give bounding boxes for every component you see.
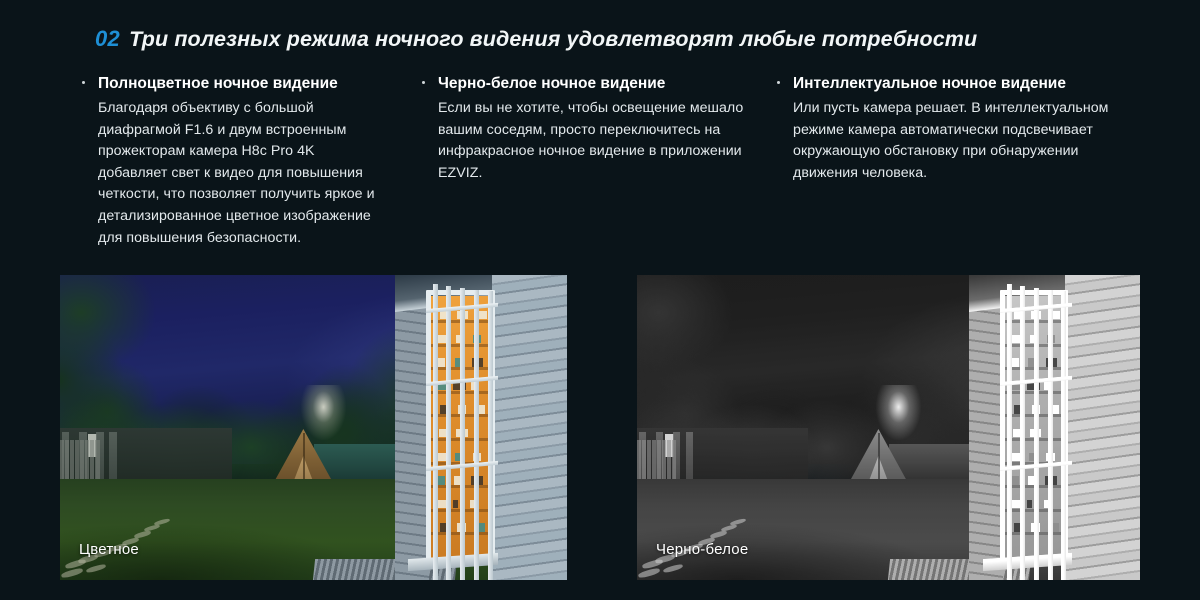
house-siding-right xyxy=(488,275,567,580)
bullet-icon xyxy=(422,81,425,84)
photo-color-night-vision: Цветное xyxy=(60,275,567,580)
stepping-stone xyxy=(730,518,746,526)
photo-caption: Черно-белое xyxy=(656,541,748,558)
house-facade xyxy=(395,275,567,580)
feature-body: Благодаря объективу с большой диафрагмой… xyxy=(78,98,384,249)
stepping-stone xyxy=(638,568,661,579)
bullet-icon xyxy=(82,81,85,84)
window-mullion-vertical xyxy=(1048,290,1053,580)
scene-render xyxy=(637,275,1140,580)
feature-column-black-and-white: Черно-белое ночное видение Если вы не хо… xyxy=(418,74,773,249)
feature-heading-label: Полноцветное ночное видение xyxy=(98,75,338,92)
window-mullion-vertical xyxy=(1034,288,1039,580)
house-siding-left xyxy=(395,275,429,580)
section-number: 02 xyxy=(95,26,120,52)
feature-heading-label: Черно-белое ночное видение xyxy=(438,75,665,92)
house-siding-left xyxy=(969,275,1003,580)
page-title: Три полезных режима ночного видения удов… xyxy=(129,27,977,52)
house-facade xyxy=(969,275,1140,580)
feature-column-full-color: Полноцветное ночное видение Благодаря об… xyxy=(78,74,418,249)
feature-heading: Черно-белое ночное видение xyxy=(418,74,749,94)
window-mullion-vertical xyxy=(1020,286,1025,580)
stepping-stone xyxy=(720,524,736,532)
stepping-stone xyxy=(710,530,728,539)
feature-body: Или пусть камера решает. В интеллектуаль… xyxy=(773,98,1128,184)
window-mullion-vertical xyxy=(460,288,465,580)
house-siding-right xyxy=(1061,275,1140,580)
stepping-stone xyxy=(153,518,169,526)
window-mullion-vertical xyxy=(433,284,438,580)
stepping-stone xyxy=(663,563,683,573)
stepping-stone xyxy=(61,567,84,579)
feature-column-smart: Интеллектуальное ночное видение Или пуст… xyxy=(773,74,1128,249)
feature-columns: Полноцветное ночное видение Благодаря об… xyxy=(78,74,1128,249)
window-mullion-vertical xyxy=(1007,284,1012,580)
photo-black-and-white-night-vision: Черно-белое xyxy=(637,275,1140,580)
window-mullion-vertical xyxy=(1061,291,1066,580)
photo-caption: Цветное xyxy=(79,541,139,558)
stepping-stone xyxy=(144,524,160,532)
stepping-stone xyxy=(86,563,106,573)
stepping-stone xyxy=(133,530,151,539)
window-mullion-vertical xyxy=(474,290,479,580)
page-header: 02 Три полезных режима ночного видения у… xyxy=(95,26,977,52)
scene-render xyxy=(60,275,567,580)
feature-heading-label: Интеллектуальное ночное видение xyxy=(793,75,1066,92)
window-mullion-vertical xyxy=(446,286,451,580)
feature-body: Если вы не хотите, чтобы освещение мешал… xyxy=(418,98,749,184)
bullet-icon xyxy=(777,81,780,84)
window-mullion-vertical xyxy=(488,291,493,580)
feature-heading: Полноцветное ночное видение xyxy=(78,74,384,94)
feature-heading: Интеллектуальное ночное видение xyxy=(773,74,1128,94)
